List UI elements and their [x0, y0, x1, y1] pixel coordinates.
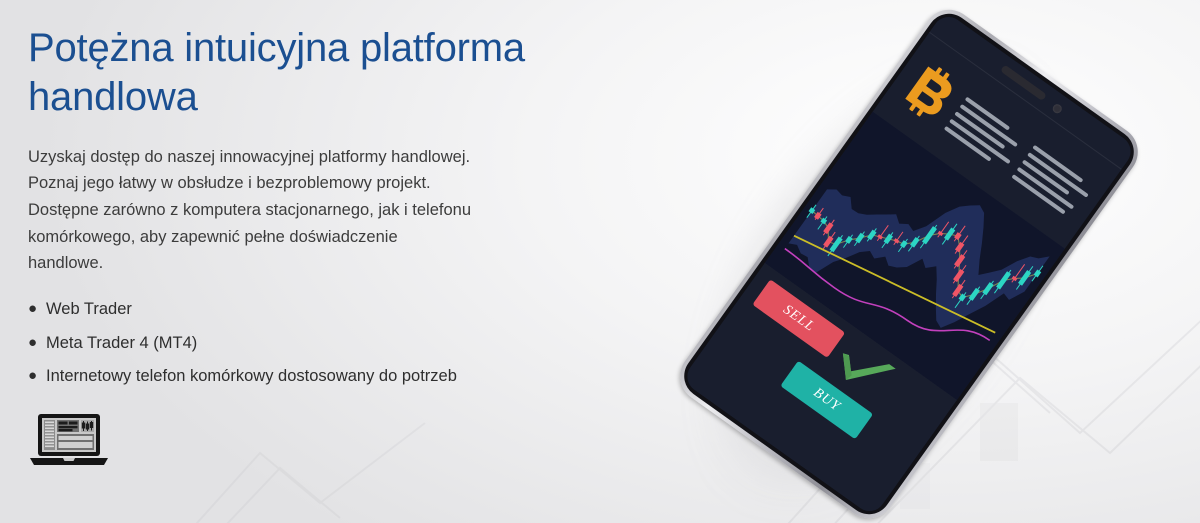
feature-list: ● Web Trader ● Meta Trader 4 (MT4) ● Int…: [28, 293, 638, 394]
phone-mockup-area: SELL BUY: [628, 0, 1188, 514]
banner-text-column: Potężna intuicyjna platforma handlowa Uz…: [28, 24, 638, 468]
placeholder-column: [944, 97, 1028, 173]
laptop-trading-platform-icon: [28, 412, 112, 468]
list-item-label: Web Trader: [46, 300, 132, 318]
bullet-icon: ●: [28, 364, 37, 387]
list-item: ● Meta Trader 4 (MT4): [28, 327, 638, 361]
list-item-label: Meta Trader 4 (MT4): [46, 334, 197, 352]
bullet-icon: ●: [28, 331, 37, 354]
list-item-label: Internetowy telefon komórkowy dostosowan…: [46, 367, 457, 385]
page-title: Potężna intuicyjna platforma handlowa: [28, 24, 638, 122]
list-item: ● Internetowy telefon komórkowy dostosow…: [28, 360, 638, 394]
trading-platform-banner: Potężna intuicyjna platforma handlowa Uz…: [0, 0, 1200, 523]
list-item: ● Web Trader: [28, 293, 638, 327]
bullet-icon: ●: [28, 297, 37, 320]
placeholder-column: [1011, 145, 1095, 221]
intro-paragraph: Uzyskaj dostęp do naszej innowacyjnej pl…: [28, 144, 638, 278]
